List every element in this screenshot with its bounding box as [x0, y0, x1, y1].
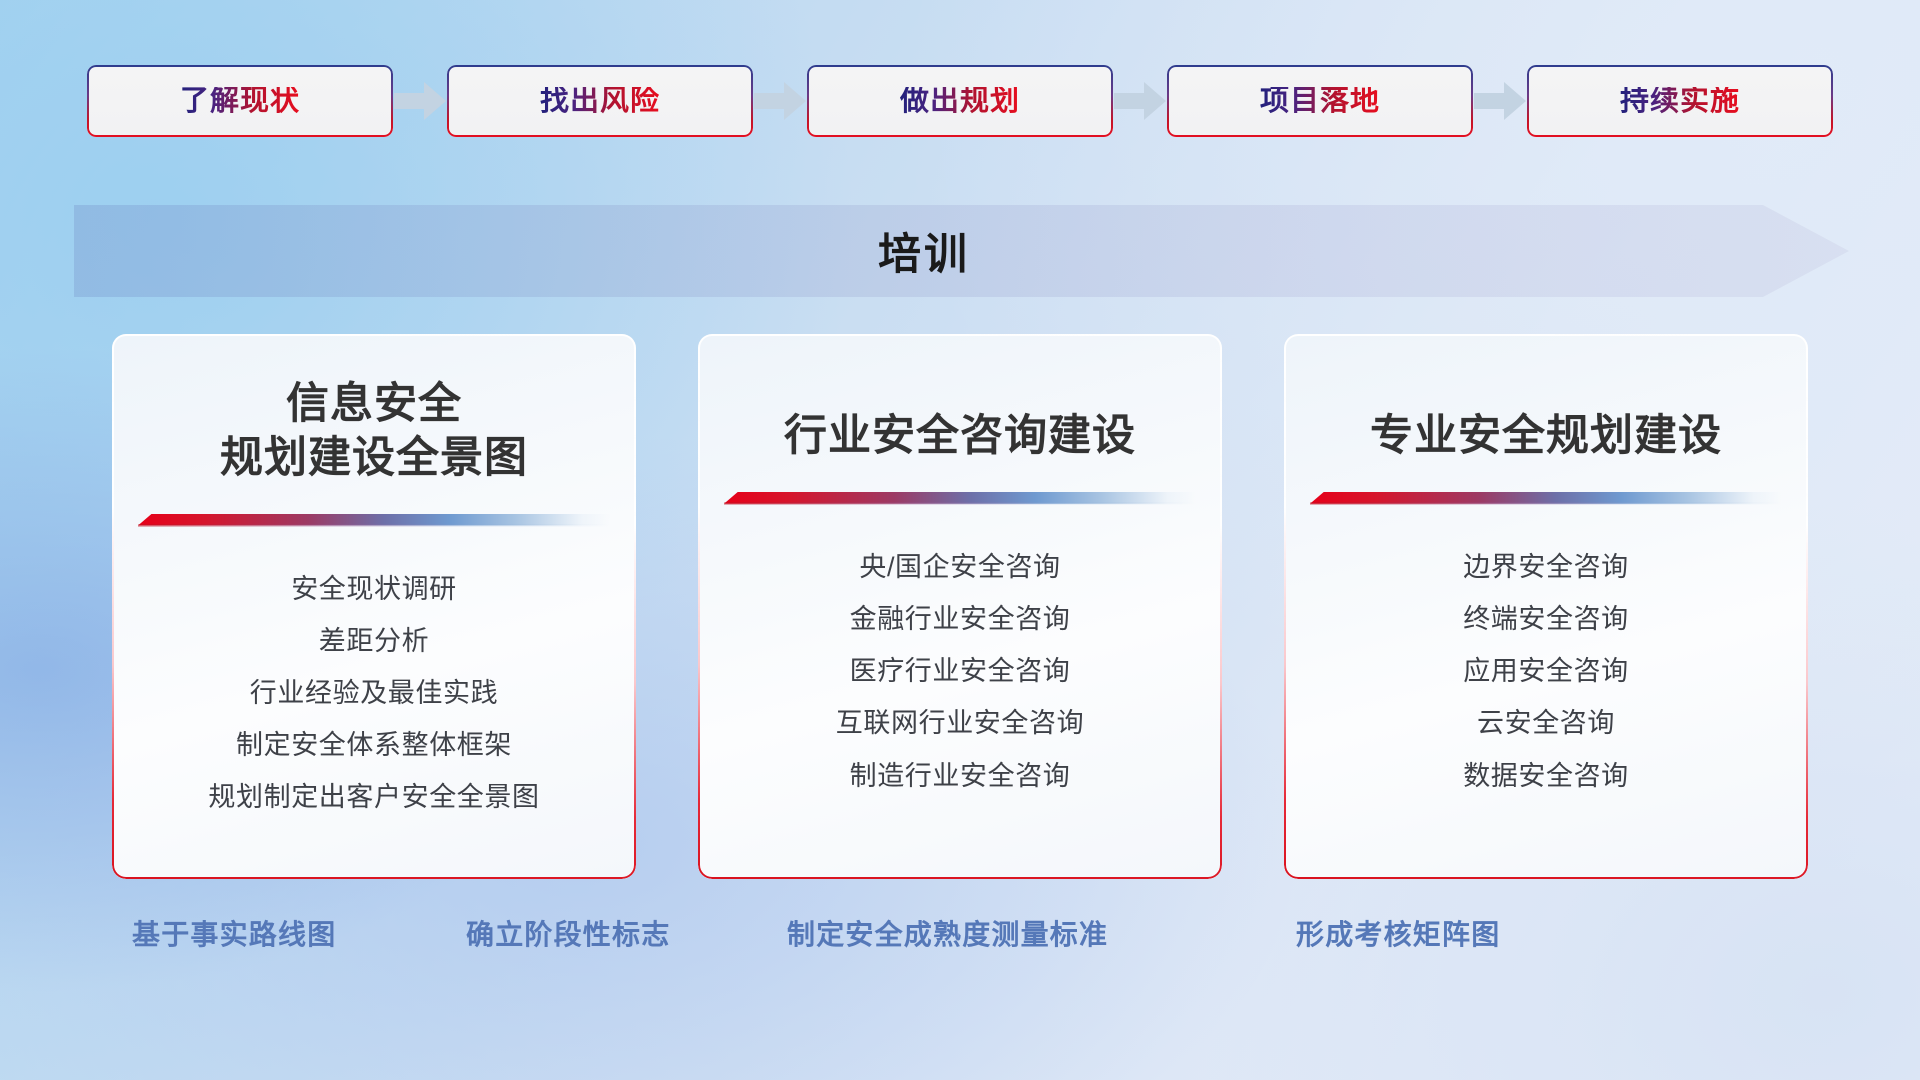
card-group: 信息安全 规划建设全景图 安全现状调研 差距分析 行业经验及最佳实践 制定安全体… [0, 334, 1920, 879]
list-item: 云安全咨询 [1477, 702, 1615, 745]
divider-glow [138, 524, 610, 527]
list-item: 制定安全体系整体框架 [236, 724, 512, 767]
list-item: 央/国企安全咨询 [859, 546, 1060, 589]
card-divider-0 [112, 514, 636, 526]
list-item: 互联网行业安全咨询 [836, 702, 1084, 745]
divider-glow [724, 502, 1196, 505]
card-title-line: 行业安全咨询建设 [724, 410, 1196, 464]
process-step-row: 了解现状 找出风险 做出规划 项目落地 持续实施 [0, 64, 1920, 138]
banner-title: 培训 [74, 205, 1774, 297]
list-item: 差距分析 [319, 620, 429, 663]
list-item: 数据安全咨询 [1463, 755, 1629, 798]
list-item: 应用安全咨询 [1463, 650, 1629, 693]
step-box-0[interactable]: 了解现状 [87, 65, 393, 137]
card-1[interactable]: 行业安全咨询建设 央/国企安全咨询 金融行业安全咨询 医疗行业安全咨询 互联网行… [698, 334, 1222, 879]
step-box-3[interactable]: 项目落地 [1167, 65, 1473, 137]
card-0[interactable]: 信息安全 规划建设全景图 安全现状调研 差距分析 行业经验及最佳实践 制定安全体… [112, 334, 636, 879]
bottom-label-1: 确立阶段性标志 [466, 912, 670, 958]
bottom-label-0: 基于事实路线图 [132, 912, 336, 958]
card-title-line: 专业安全规划建设 [1310, 410, 1782, 464]
list-item: 行业经验及最佳实践 [250, 672, 498, 715]
bottom-label-row: 基于事实路线图 确立阶段性标志 制定安全成熟度测量标准 形成考核矩阵图 [0, 912, 1920, 958]
card-title-line: 信息安全 [138, 378, 610, 432]
card-title-0: 信息安全 规划建设全景图 [112, 378, 636, 486]
card-divider-1 [698, 492, 1222, 504]
arrow-right-icon [751, 81, 809, 121]
divider-glow [1310, 502, 1782, 505]
step-label-4: 持续实施 [1620, 87, 1740, 116]
list-item: 制造行业安全咨询 [850, 755, 1071, 798]
step-box-1[interactable]: 找出风险 [447, 65, 753, 137]
arrow-right-icon [391, 81, 449, 121]
card-2[interactable]: 专业安全规划建设 边界安全咨询 终端安全咨询 应用安全咨询 云安全咨询 数据安全… [1284, 334, 1808, 879]
step-label-0: 了解现状 [180, 87, 300, 116]
arrow-right-icon [1111, 81, 1169, 121]
card-list-0: 安全现状调研 差距分析 行业经验及最佳实践 制定安全体系整体框架 规划制定出客户… [112, 568, 636, 820]
list-item: 边界安全咨询 [1463, 546, 1629, 589]
step-box-2[interactable]: 做出规划 [807, 65, 1113, 137]
step-label-3: 项目落地 [1260, 87, 1380, 116]
list-item: 规划制定出客户安全全景图 [208, 776, 539, 819]
list-item: 终端安全咨询 [1463, 598, 1629, 641]
list-item: 医疗行业安全咨询 [850, 650, 1071, 693]
step-label-1: 找出风险 [540, 87, 660, 116]
training-banner: 培训 [74, 205, 1849, 297]
card-title-2: 专业安全规划建设 [1284, 410, 1808, 464]
card-list-1: 央/国企安全咨询 金融行业安全咨询 医疗行业安全咨询 互联网行业安全咨询 制造行… [698, 546, 1222, 798]
card-list-2: 边界安全咨询 终端安全咨询 应用安全咨询 云安全咨询 数据安全咨询 [1284, 546, 1808, 798]
list-item: 安全现状调研 [291, 568, 457, 611]
bottom-label-2: 制定安全成熟度测量标准 [787, 912, 1108, 958]
step-label-2: 做出规划 [900, 87, 1020, 116]
list-item: 金融行业安全咨询 [850, 598, 1071, 641]
bottom-label-3: 形成考核矩阵图 [1296, 912, 1500, 958]
card-title-1: 行业安全咨询建设 [698, 410, 1222, 464]
step-box-4[interactable]: 持续实施 [1527, 65, 1833, 137]
arrow-right-icon [1471, 81, 1529, 121]
card-title-line: 规划建设全景图 [138, 432, 610, 486]
card-divider-2 [1284, 492, 1808, 504]
